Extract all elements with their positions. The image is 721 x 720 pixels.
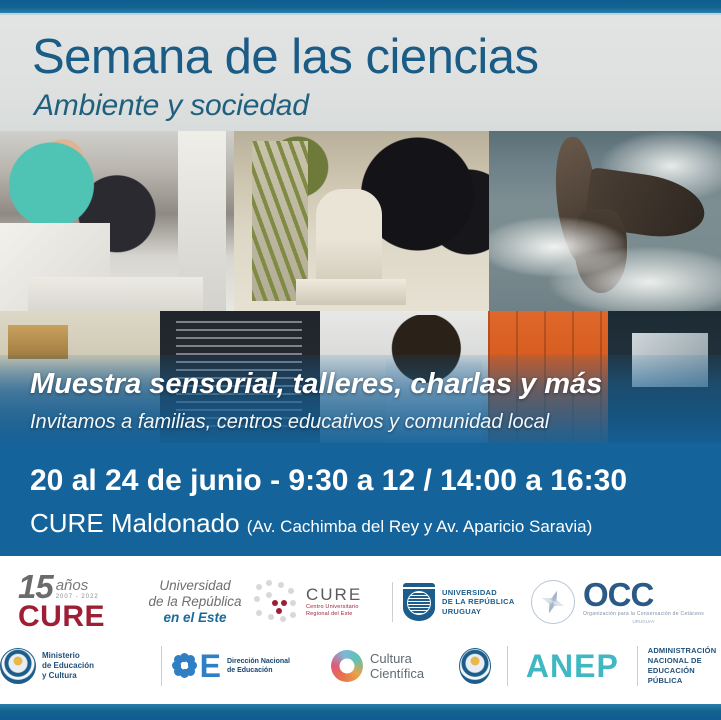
- photo-detail: [316, 189, 382, 285]
- event-subline: Invitamos a familias, centros educativos…: [30, 410, 549, 434]
- venue-name: CURE Maldonado: [30, 508, 240, 538]
- udelar-este-line3: en el Este: [163, 610, 226, 626]
- cultura-cientifica-mark-icon: [331, 650, 363, 682]
- logo-row-primary: 15 años 2007 - 2022 CURE Universidad de …: [0, 570, 721, 634]
- uruguay-seal-icon: [0, 648, 36, 684]
- logo-divider: [161, 646, 162, 686]
- event-venue: CURE Maldonado (Av. Cachimba del Rey y A…: [30, 508, 592, 542]
- occ-tagline: Organización para la Conservación de Cet…: [583, 611, 704, 618]
- logo-cure-regional: CURE Centro Universitario Regional del E…: [254, 580, 382, 624]
- dne-text: Dirección Nacional de Educación: [227, 657, 290, 675]
- udelar-shield-icon: [403, 583, 435, 621]
- udelar-text: UNIVERSIDAD DE LA REPÚBLICA URUGUAY: [442, 588, 515, 617]
- flower-mark-icon: [172, 653, 198, 679]
- logo-cultura-cientifica: Cultura Científica: [331, 650, 460, 682]
- photo-detail: [8, 325, 68, 359]
- logo-divider: [392, 582, 393, 622]
- udelar-este-line2: de la República: [148, 594, 241, 610]
- logo-15-anos-label: años: [56, 578, 99, 593]
- occ-tagline2: URUGUAY: [583, 618, 704, 625]
- dne-line1: Dirección Nacional: [227, 657, 290, 666]
- logo-universidad-de-la-republica: UNIVERSIDAD DE LA REPÚBLICA URUGUAY: [403, 583, 531, 621]
- shield-bar: [403, 587, 435, 589]
- logo-occ: OCC Organización para la Conservación de…: [531, 579, 713, 625]
- dne-letter-e: E: [200, 651, 221, 681]
- cc-line1: Cultura: [370, 651, 424, 666]
- udelar-este-line1: Universidad: [159, 578, 230, 594]
- anep-line3: EDUCACIÓN PÚBLICA: [648, 666, 721, 686]
- mec-text: Ministerio de Educación y Cultura: [42, 651, 94, 681]
- page-title: Semana de las ciencias: [32, 30, 539, 84]
- collage-row-top: [0, 131, 721, 311]
- photo-detail: [28, 277, 203, 311]
- mec-line2: de Educación: [42, 661, 94, 671]
- cc-line2: Científica: [370, 666, 424, 681]
- logo-ministerio-educacion-cultura: Ministerio de Educación y Cultura: [0, 648, 151, 684]
- udelar-line3: URUGUAY: [442, 607, 515, 617]
- bottom-accent-bar: [0, 704, 721, 720]
- cure-dots-mark-icon: [254, 580, 300, 624]
- logo-15-top: 15 años 2007 - 2022: [18, 572, 99, 602]
- logo-15-cure-word: CURE: [18, 602, 105, 632]
- occ-mark-icon: [531, 580, 575, 624]
- logo-udelar-en-el-este: Universidad de la República en el Este: [136, 578, 254, 626]
- occ-word: OCC: [583, 579, 704, 611]
- logo-cure-15-anos: 15 años 2007 - 2022 CURE: [8, 572, 136, 632]
- logo-row-secondary: Ministerio de Educación y Cultura: [0, 640, 721, 692]
- header-band: Semana de las ciencias Ambiente y socied…: [0, 15, 721, 131]
- photo-whale-tail: [489, 131, 721, 311]
- occ-text: OCC Organización para la Conservación de…: [583, 579, 704, 625]
- page-subtitle: Ambiente y sociedad: [34, 89, 309, 123]
- shield-globe: [407, 591, 431, 615]
- cure-regional-tagline1: Centro Universitario: [306, 604, 362, 611]
- logo-band: 15 años 2007 - 2022 CURE Universidad de …: [0, 556, 721, 704]
- cure-regional-tagline2: Regional del Este: [306, 611, 362, 618]
- top-accent-bar: [0, 0, 721, 13]
- anep-line1: ADMINISTRACIÓN: [648, 646, 721, 656]
- cultura-cientifica-text: Cultura Científica: [370, 651, 424, 681]
- anep-word: ANEP: [526, 651, 619, 681]
- poster-semana-de-las-ciencias: Semana de las ciencias Ambiente y socied…: [0, 0, 721, 720]
- photo-detail: [549, 247, 721, 311]
- udelar-line2: DE LA REPÚBLICA: [442, 597, 515, 607]
- anep-line2: NACIONAL DE: [648, 656, 721, 666]
- event-headline: Muestra sensorial, talleres, charlas y m…: [30, 368, 602, 401]
- logo-divider: [637, 646, 638, 686]
- logo-direccion-nacional-educacion: E Dirección Nacional de Educación: [172, 651, 331, 681]
- uruguay-seal-icon: [459, 648, 491, 684]
- udelar-line1: UNIVERSIDAD: [442, 588, 515, 598]
- logo-15-number: 15: [18, 572, 53, 602]
- event-dates: 20 al 24 de junio - 9:30 a 12 / 14:00 a …: [30, 464, 627, 498]
- photo-detail: [252, 141, 308, 301]
- logo-divider: [507, 646, 508, 686]
- logo-15-anos-wrap: años 2007 - 2022: [56, 578, 99, 602]
- anep-text: ADMINISTRACIÓN NACIONAL DE EDUCACIÓN PÚB…: [648, 646, 721, 686]
- photo-lab-students: [0, 131, 234, 311]
- dne-line2: de Educación: [227, 666, 290, 675]
- mec-line3: y Cultura: [42, 671, 94, 681]
- mec-line1: Ministerio: [42, 651, 94, 661]
- cure-regional-word: CURE: [306, 586, 362, 604]
- venue-address: (Av. Cachimba del Rey y Av. Aparicio Sar…: [247, 517, 593, 536]
- photo-microscopes: [234, 131, 489, 311]
- cure-regional-text: CURE Centro Universitario Regional del E…: [306, 586, 362, 618]
- logo-anep: ANEP ADMINISTRACIÓN NACIONAL DE EDUCACIÓ…: [459, 646, 721, 686]
- photo-detail: [296, 279, 406, 305]
